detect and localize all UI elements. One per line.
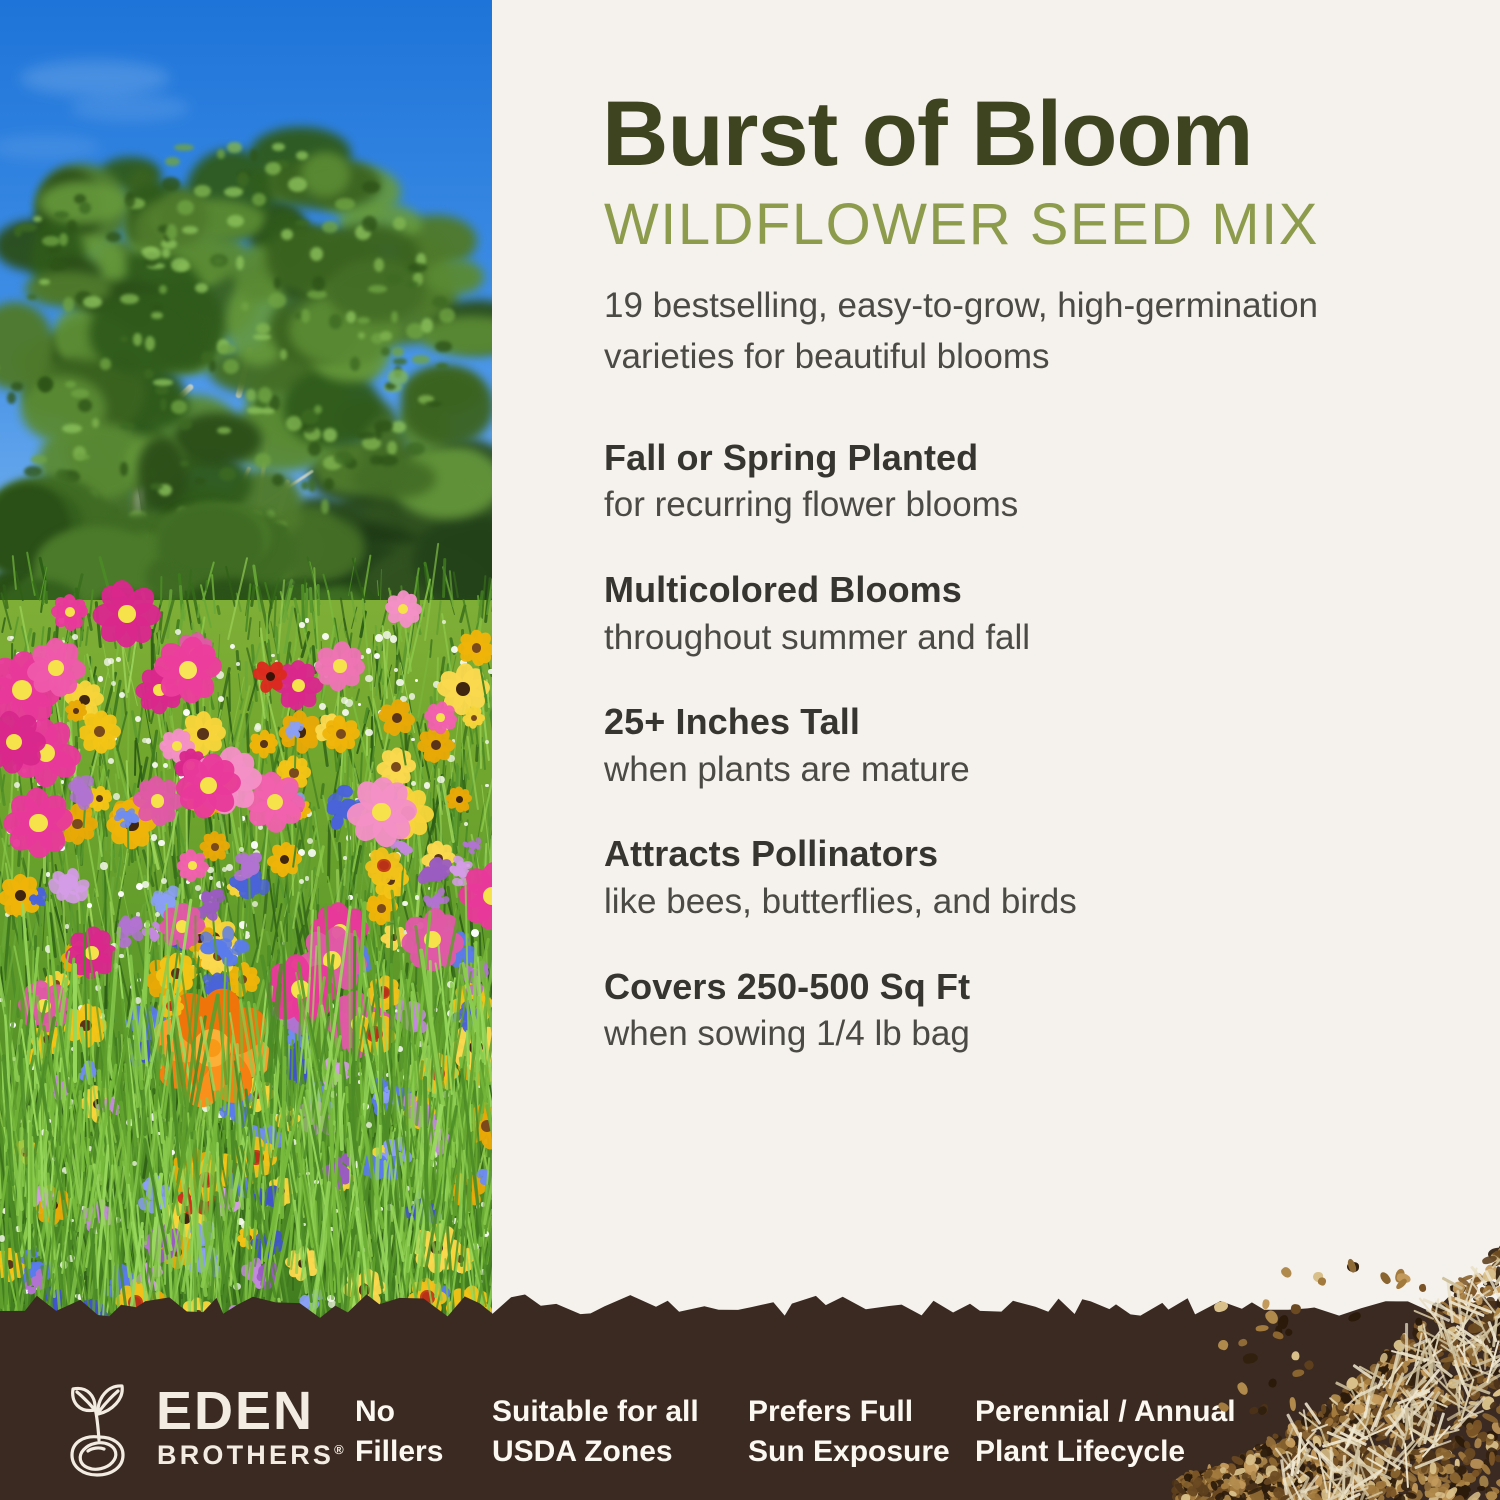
`red-poppy-center [266, 672, 275, 681]
leaf-cluster [165, 157, 179, 167]
leaf-cluster [381, 347, 389, 355]
grass-blade [304, 575, 306, 593]
tree-canopy [21, 376, 106, 442]
leaf-cluster [50, 260, 66, 270]
white-wildflower [464, 822, 468, 826]
white-wildflower [358, 703, 361, 706]
leaf-cluster [71, 389, 89, 398]
leaf-cluster [47, 246, 61, 254]
product-infographic: Burst of Bloom WILDFLOWER SEED MIX 19 be… [0, 0, 1500, 1500]
`yellow-coreopsis-center [197, 728, 209, 740]
leaf-cluster [272, 474, 284, 486]
leaf-cluster [307, 290, 327, 299]
leaf-cluster [335, 198, 355, 209]
leaf-cluster [54, 211, 69, 219]
leaf-cluster [79, 202, 90, 214]
leaf-cluster [308, 479, 315, 492]
white-wildflower [471, 929, 479, 937]
tree-canopy [301, 152, 349, 197]
white-wildflower [236, 662, 240, 666]
leaf-cluster [388, 369, 408, 385]
leaf-cluster [247, 407, 263, 414]
leaf-cluster [252, 193, 266, 205]
leaf-cluster [209, 360, 216, 372]
leaf-cluster [65, 381, 76, 388]
white-wildflower [319, 703, 326, 710]
leaf-cluster [393, 358, 408, 365]
leaf-cluster [237, 172, 249, 187]
white-wildflower [65, 924, 69, 928]
white-wildflower [343, 856, 347, 860]
leaf-cluster [171, 400, 187, 413]
white-wildflower [402, 901, 407, 906]
white-wildflower [485, 740, 489, 744]
leaf-cluster [375, 427, 382, 440]
white-wildflower [218, 696, 224, 702]
leaf-cluster [144, 369, 154, 379]
leaf-cluster [153, 379, 173, 386]
white-wildflower [113, 793, 120, 800]
white-wildflower [119, 954, 124, 959]
white-wildflower [305, 876, 309, 880]
leaf-cluster [236, 256, 243, 270]
leaf-cluster [67, 220, 78, 232]
`pink-cosmos-center [85, 946, 99, 960]
white-wildflower [10, 636, 13, 639]
white-wildflower [72, 634, 78, 640]
`pink-cosmos-large-center [48, 660, 64, 676]
`pink-cosmos-center [172, 741, 181, 750]
leaf-cluster [255, 453, 271, 468]
leaf-cluster [174, 144, 194, 151]
white-wildflower [142, 881, 149, 888]
white-wildflower [307, 838, 313, 844]
`pink-cosmos-center [65, 607, 75, 617]
leaf-cluster [334, 451, 353, 464]
`yellow-coreopsis-center [472, 643, 482, 653]
leaf-cluster [11, 382, 22, 391]
leaf-cluster [171, 258, 189, 272]
leaf-cluster [217, 427, 230, 434]
`pink-cosmos-large-center [179, 661, 197, 679]
wildflower-meadow-photo [0, 0, 492, 1345]
leaf-cluster [194, 477, 206, 485]
white-wildflower [108, 758, 114, 764]
leaf-cluster [362, 216, 377, 231]
grass-blade [475, 744, 479, 762]
leaf-cluster [406, 442, 425, 455]
leaf-cluster [223, 359, 239, 374]
`yellow-coreopsis-center [211, 843, 219, 851]
`yellow-coreopsis-center [456, 796, 463, 803]
leaf-cluster [120, 462, 127, 475]
leaf-cluster [406, 281, 419, 289]
leaf-cluster [379, 455, 398, 465]
leaf-cluster [180, 460, 190, 467]
leaf-cluster [217, 149, 224, 158]
`yellow-coreopsis-center [96, 795, 103, 802]
white-wildflower [222, 867, 227, 872]
white-wildflower [424, 782, 430, 788]
white-wildflower [87, 903, 92, 908]
leaf-cluster [439, 308, 454, 322]
leaf-cluster [151, 312, 162, 319]
leaf-cluster [358, 332, 365, 339]
blue-cornflower-floret [120, 821, 130, 829]
leaf-cluster [412, 355, 430, 364]
leaf-cluster [281, 229, 293, 240]
grass-blade [317, 584, 320, 616]
cloud [70, 95, 190, 121]
leaf-cluster [227, 142, 241, 154]
leaf-cluster [357, 432, 375, 439]
leaf-cluster [133, 333, 141, 346]
tree-canopy [137, 436, 189, 511]
leaf-cluster [362, 181, 380, 193]
tree-canopy [155, 189, 208, 245]
white-wildflower [252, 901, 258, 907]
leaf-cluster [329, 314, 342, 329]
white-wildflower [415, 679, 418, 682]
white-wildflower [135, 716, 141, 722]
leaf-cluster [218, 344, 237, 354]
white-wildflower [411, 738, 414, 741]
leaf-cluster [435, 341, 451, 353]
tree-canopy [401, 367, 492, 446]
white-wildflower [305, 618, 309, 622]
`pink-cosmos-center [436, 713, 445, 722]
leaf-cluster [258, 387, 272, 403]
leaf-cluster [152, 304, 162, 312]
tree-canopy [426, 259, 485, 296]
white-wildflower [161, 878, 167, 884]
`yellow-coreopsis-center [471, 715, 477, 721]
leaf-cluster [246, 389, 256, 402]
`pink-cosmos-center [151, 794, 164, 807]
leaf-cluster [368, 285, 387, 293]
white-wildflower [226, 864, 233, 871]
white-wildflower [437, 776, 444, 783]
leaf-cluster [194, 185, 210, 197]
leaf-cluster [387, 441, 397, 455]
white-wildflower [142, 738, 148, 744]
white-wildflower [118, 891, 124, 897]
leaf-cluster [59, 233, 68, 246]
leaf-cluster [241, 302, 249, 311]
white-wildflower [390, 635, 398, 643]
leaf-cluster [253, 334, 271, 341]
leaf-cluster [162, 177, 180, 190]
white-wildflower [396, 679, 403, 686]
leaf-cluster [296, 151, 308, 160]
white-wildflower [230, 644, 235, 649]
leaf-cluster [120, 294, 139, 305]
leaf-cluster [272, 143, 285, 152]
white-wildflower [375, 634, 383, 642]
leaf-cluster [256, 323, 269, 334]
white-wildflower [345, 699, 353, 707]
leaf-cluster [380, 331, 393, 341]
white-wildflower [151, 834, 157, 840]
leaf-cluster [432, 296, 447, 308]
white-wildflower [415, 895, 420, 900]
`pink-cosmos-center [188, 861, 197, 870]
leaf-cluster [31, 455, 47, 463]
white-wildflower [383, 631, 391, 639]
leaf-cluster [143, 247, 161, 260]
leaf-cluster [391, 311, 398, 324]
leaf-cluster [425, 401, 442, 407]
white-wildflower [100, 862, 107, 869]
white-wildflower [308, 849, 316, 857]
grass-blade [134, 740, 136, 776]
white-wildflower [46, 872, 50, 876]
`yellow-coreopsis-center [73, 708, 79, 714]
purple-cornflower-floret [396, 841, 405, 848]
leaf-cluster [100, 358, 112, 369]
`pink-cosmos-center [372, 803, 390, 821]
leaf-cluster [63, 297, 75, 312]
blue-cornflower-floret [30, 897, 36, 905]
`pink-cosmos-center [29, 814, 48, 833]
leaf-cluster [350, 357, 360, 371]
white-wildflower [175, 629, 181, 635]
leaf-cluster [166, 224, 178, 240]
white-wildflower [299, 622, 305, 628]
white-wildflower [366, 648, 372, 654]
leaf-cluster [408, 263, 427, 272]
white-wildflower [104, 658, 111, 665]
leaf-cluster [286, 416, 302, 431]
`pink-cosmos-center [333, 659, 346, 672]
white-wildflower [195, 885, 201, 891]
cloud [20, 60, 170, 96]
leaf-cluster [280, 349, 287, 359]
leaf-cluster [18, 223, 37, 231]
leaf-cluster [74, 454, 90, 460]
`yellow-coreopsis-center [260, 740, 268, 748]
`pink-cosmos-center [292, 679, 305, 692]
leaf-cluster [322, 221, 338, 233]
`yellow-coreopsis-center [377, 904, 386, 913]
leaf-cluster [62, 424, 82, 433]
white-wildflower [322, 633, 329, 640]
leaf-cluster [78, 399, 92, 412]
leaf-cluster [39, 279, 50, 285]
`pink-cosmos-center [118, 605, 136, 623]
leaf-cluster [321, 499, 329, 514]
`yellow-coreopsis-center [431, 740, 441, 750]
white-wildflower [271, 654, 275, 658]
white-wildflower [365, 675, 372, 682]
leaf-cluster [386, 273, 402, 284]
leaf-cluster [323, 428, 337, 441]
leaf-cluster [301, 309, 310, 323]
`pink-cosmos-center [267, 794, 283, 810]
white-wildflower [119, 692, 125, 698]
`yellow-coreopsis-center [392, 713, 402, 723]
